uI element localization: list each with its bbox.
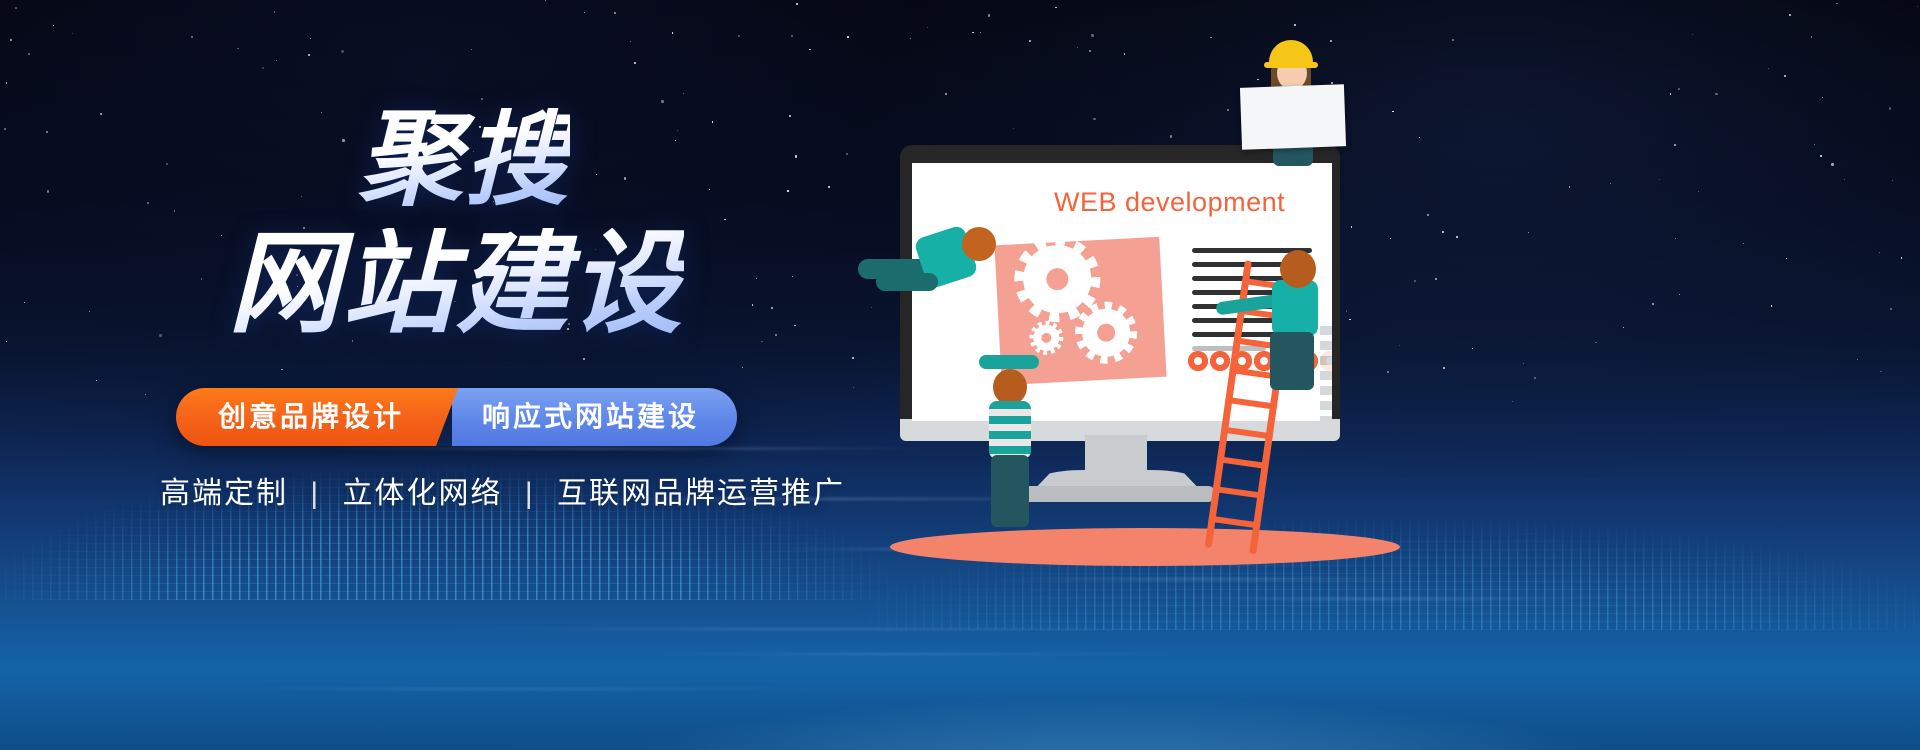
monitor-base-foot [1018,486,1216,502]
ladder-rung [1217,456,1269,469]
ladder-rung [1225,397,1277,410]
tagline-part-1: 高端定制 [160,477,288,510]
hero-banner: 聚搜 网站建设 创意品牌设计 响应式网站建设 高端定制 | 立体化网络 | 互联… [0,0,1920,750]
gear-hub [1194,357,1202,365]
lifting-worker-head [993,369,1027,405]
lifting-worker-torso [989,401,1031,459]
tagline-part-3: 互联网品牌运营推广 [557,477,845,510]
character-engineer-with-blueprint [1235,28,1345,158]
blueprint-sheet [1240,84,1346,150]
tagline-part-2: 立体化网络 [342,477,502,510]
ladder-worker-legs [1270,332,1314,390]
gear-icon [1210,351,1230,371]
character-worker-on-ladder [1248,250,1348,390]
ladder-worker-torso [1272,280,1318,336]
screen-title: WEB development [1054,187,1285,218]
ground-shadow [890,528,1400,566]
tagline-separator-1: | [310,477,320,510]
hanging-worker-legs [876,273,938,291]
pill-segment-creative-brand-design[interactable]: 创意品牌设计 [176,388,458,446]
gear-icon [1188,351,1208,371]
ladder-worker-head [1280,250,1316,288]
ladder-rung [1212,486,1264,499]
character-worker-lifting-card [975,355,1045,535]
hanging-worker-head [962,227,996,261]
headline-line-1: 聚搜 [358,108,570,212]
pill-segment-responsive-web-build[interactable]: 响应式网站建设 [452,388,737,446]
character-worker-hanging-left [858,225,988,315]
hard-hat-icon [1269,40,1313,64]
ladder-rung [1208,515,1260,528]
gear-icon [1074,300,1139,365]
gear-hub [1216,357,1224,365]
hero-copy: 聚搜 网站建设 创意品牌设计 响应式网站建设 高端定制 | 立体化网络 | 互联… [0,0,880,750]
gear-icon [1028,320,1064,356]
web-development-illustration: WEB development [830,0,1920,750]
service-pill[interactable]: 创意品牌设计 响应式网站建设 [176,388,737,446]
tagline-separator-2: | [525,477,535,510]
ladder-rung [1221,426,1273,439]
lifting-worker-arms [979,355,1039,369]
lifting-worker-legs [991,455,1029,527]
tagline: 高端定制 | 立体化网络 | 互联网品牌运营推广 [160,468,845,512]
headline-line-2: 网站建设 [228,228,684,340]
